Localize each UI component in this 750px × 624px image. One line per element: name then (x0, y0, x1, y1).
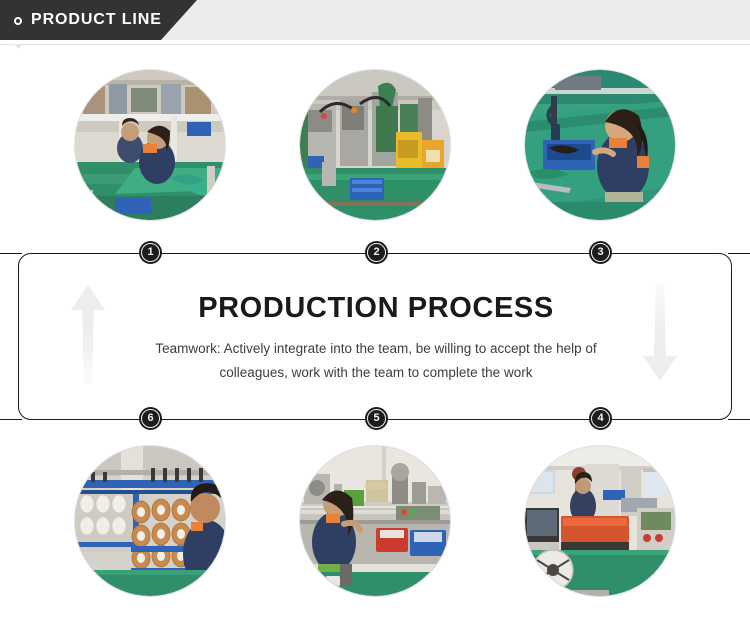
process-step-number: 1 (141, 243, 160, 262)
process-step-badge-4[interactable]: 4 (589, 407, 612, 430)
arrow-up-icon (65, 283, 111, 383)
process-photo-injection-molding (300, 70, 450, 220)
process-step-number: 3 (591, 243, 610, 262)
page-header: PRODUCT LINE (0, 0, 750, 40)
process-photo-cable-sorting (525, 70, 675, 220)
production-process-panel: PRODUCTION PROCESS Teamwork: Actively in… (18, 253, 732, 420)
process-step-badge-5[interactable]: 5 (365, 407, 388, 430)
process-photo-lab-bench-inspection (300, 446, 450, 596)
process-step-number: 2 (367, 243, 386, 262)
process-connector-line-bottom-left (0, 419, 22, 420)
process-photo-wire-braiding (75, 446, 225, 596)
page-title: PRODUCT LINE (31, 11, 162, 29)
process-description: Teamwork: Actively integrate into the te… (126, 337, 626, 384)
process-heading: PRODUCTION PROCESS (19, 292, 733, 325)
circle-outline-icon (14, 17, 22, 25)
header-divider (0, 44, 750, 45)
arrow-down-icon (637, 283, 683, 383)
process-step-number: 5 (367, 409, 386, 428)
process-connector-line-top-left (0, 253, 22, 254)
process-connector-line-top-right (728, 253, 750, 254)
process-step-badge-2[interactable]: 2 (365, 241, 388, 264)
process-step-number: 6 (141, 409, 160, 428)
process-step-badge-1[interactable]: 1 (139, 241, 162, 264)
process-step-number: 4 (591, 409, 610, 428)
process-photo-testing-equipment (525, 446, 675, 596)
process-step-badge-3[interactable]: 3 (589, 241, 612, 264)
process-connector-line-bottom-right (728, 419, 750, 420)
process-step-badge-6[interactable]: 6 (139, 407, 162, 430)
process-photo-assembly-line (75, 70, 225, 220)
header-notch-marker (14, 44, 23, 49)
